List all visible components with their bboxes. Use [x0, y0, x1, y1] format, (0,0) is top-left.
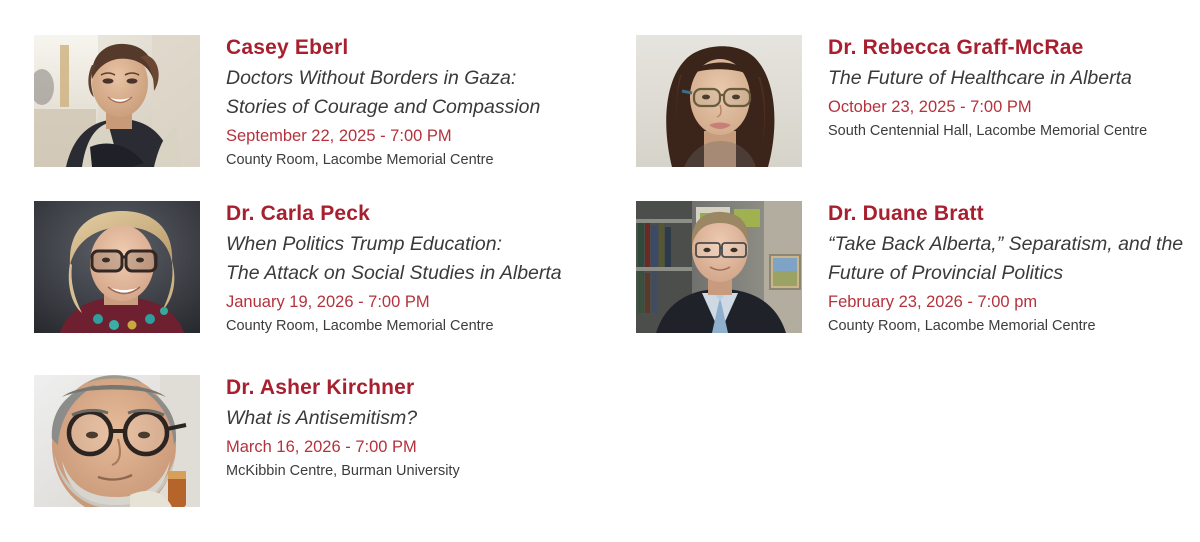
speaker-date: September 22, 2025 - 7:00 PM [226, 124, 540, 148]
speaker-date: October 23, 2025 - 7:00 PM [828, 95, 1147, 119]
speaker-info-rebecca-graff-mcrae: Dr. Rebecca Graff-McRae The Future of He… [828, 35, 1147, 142]
speaker-portrait-asher-kirchner [34, 375, 200, 507]
speaker-name: Casey Eberl [226, 35, 540, 61]
speaker-portrait-duane-bratt [636, 201, 802, 333]
speaker-card-rebecca-graff-mcrae[interactable]: Dr. Rebecca Graff-McRae The Future of He… [636, 35, 1147, 167]
speaker-portrait-casey-eberl [34, 35, 200, 167]
speaker-talk-title-line: Doctors Without Borders in Gaza: [226, 64, 540, 93]
speaker-venue: County Room, Lacombe Memorial Centre [226, 149, 540, 171]
speaker-talk-title-line: “Take Back Alberta,” Separatism, and the [828, 230, 1183, 259]
speaker-date: January 19, 2026 - 7:00 PM [226, 290, 562, 314]
speaker-talk-title-line: When Politics Trump Education: [226, 230, 562, 259]
speaker-name: Dr. Duane Bratt [828, 201, 1183, 227]
speaker-date: February 23, 2026 - 7:00 pm [828, 290, 1183, 314]
speaker-info-asher-kirchner: Dr. Asher Kirchner What is Antisemitism?… [226, 375, 460, 482]
speaker-card-asher-kirchner[interactable]: Dr. Asher Kirchner What is Antisemitism?… [34, 375, 460, 507]
speaker-card-carla-peck[interactable]: Dr. Carla Peck When Politics Trump Educa… [34, 201, 562, 337]
speaker-portrait-carla-peck [34, 201, 200, 333]
speaker-info-carla-peck: Dr. Carla Peck When Politics Trump Educa… [226, 201, 562, 337]
speaker-talk-title-line: What is Antisemitism? [226, 404, 460, 433]
speaker-info-casey-eberl: Casey Eberl Doctors Without Borders in G… [226, 35, 540, 171]
speaker-venue: County Room, Lacombe Memorial Centre [828, 315, 1183, 337]
speaker-name: Dr. Carla Peck [226, 201, 562, 227]
speaker-info-duane-bratt: Dr. Duane Bratt “Take Back Alberta,” Sep… [828, 201, 1183, 337]
speaker-venue: County Room, Lacombe Memorial Centre [226, 315, 562, 337]
speaker-venue: McKibbin Centre, Burman University [226, 460, 460, 482]
speaker-talk-title-line: Stories of Courage and Compassion [226, 93, 540, 122]
speaker-name: Dr. Asher Kirchner [226, 375, 460, 401]
speaker-talk-title-line: Future of Provincial Politics [828, 259, 1183, 288]
speaker-date: March 16, 2026 - 7:00 PM [226, 435, 460, 459]
speaker-talk-title-line: The Future of Healthcare in Alberta [828, 64, 1147, 93]
speaker-name: Dr. Rebecca Graff-McRae [828, 35, 1147, 61]
speaker-series-grid: Casey Eberl Doctors Without Borders in G… [0, 0, 1200, 542]
speaker-talk-title-line: The Attack on Social Studies in Alberta [226, 259, 562, 288]
speaker-portrait-rebecca-graff-mcrae [636, 35, 802, 167]
speaker-venue: South Centennial Hall, Lacombe Memorial … [828, 120, 1147, 142]
speaker-card-duane-bratt[interactable]: Dr. Duane Bratt “Take Back Alberta,” Sep… [636, 201, 1183, 337]
speaker-card-casey-eberl[interactable]: Casey Eberl Doctors Without Borders in G… [34, 35, 540, 171]
